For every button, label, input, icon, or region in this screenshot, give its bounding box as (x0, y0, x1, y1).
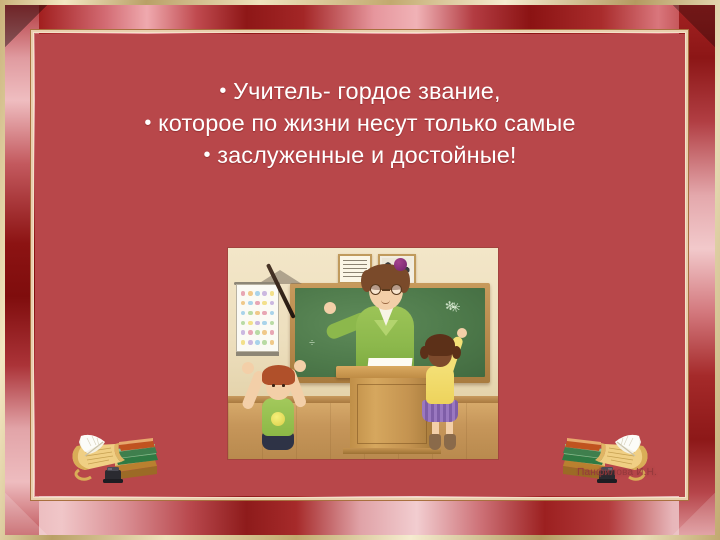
boy-hair (262, 365, 295, 385)
chart-dot (248, 311, 253, 316)
chart-dot (248, 330, 253, 335)
chart-dot (262, 301, 267, 306)
boy-eye (272, 384, 275, 387)
girl-boot (444, 434, 456, 450)
teacher-hair-accessory (394, 258, 407, 271)
chart-dot (262, 330, 267, 335)
chart-dot (255, 311, 260, 316)
wall-chart-dots (236, 284, 279, 352)
bullet-text: заслуженные и достойные! (217, 142, 516, 168)
boy-eye (282, 384, 285, 387)
chart-dot (255, 340, 260, 345)
chart-dot (248, 340, 253, 345)
books-scroll-quill-icon (59, 426, 163, 484)
slide: • Учитель- гордое звание, • которое по ж… (0, 0, 720, 540)
bullet-marker-icon: • (203, 144, 210, 166)
chart-dot (248, 291, 253, 296)
chart-dot (270, 321, 275, 326)
chart-dot (270, 291, 275, 296)
chalkboard-mark-left: ÷ (309, 338, 315, 349)
bullet-list: • Учитель- гордое звание, • которое по ж… (35, 76, 685, 172)
chart-dot (241, 301, 246, 306)
chart-dot (262, 340, 267, 345)
girl-top (426, 366, 454, 404)
chart-dot (241, 291, 246, 296)
chart-dot (270, 340, 275, 345)
chart-dot (262, 291, 267, 296)
boy-left-fist (242, 362, 254, 374)
teacher-hand (324, 302, 336, 314)
bullet-item: • заслуженные и достойные! (35, 140, 685, 172)
girl-hair (425, 334, 455, 356)
chart-dot (270, 330, 275, 335)
classroom-illustration: ÷ ✻ (228, 248, 498, 459)
chart-dot (241, 311, 246, 316)
boy-shirt-logo-icon (271, 412, 285, 426)
chart-dot (262, 321, 267, 326)
girl-boot (429, 434, 441, 450)
chart-dot (255, 291, 260, 296)
boy-right-fist (294, 360, 306, 372)
chart-dot (248, 301, 253, 306)
bullet-item: • Учитель- гордое звание, (35, 76, 685, 108)
chart-dot (270, 311, 275, 316)
chart-dot (241, 340, 246, 345)
teacher-glasses-icon (369, 284, 403, 295)
chart-dot (270, 301, 275, 306)
teacher-desk-base (343, 448, 441, 454)
chart-dot (241, 330, 246, 335)
chart-dot (248, 321, 253, 326)
bullet-text: которое по жизни несут только самые (158, 110, 575, 136)
chart-foot (236, 352, 279, 356)
chart-dot (255, 301, 260, 306)
bullet-item: • которое по жизни несут только самые (35, 108, 685, 140)
bullet-text: Учитель- гордое звание, (233, 78, 501, 104)
bullet-marker-icon: • (219, 80, 226, 102)
chart-dot (241, 321, 246, 326)
slide-canvas: • Учитель- гордое звание, • которое по ж… (35, 34, 685, 496)
chart-dot (255, 330, 260, 335)
chart-dot (262, 311, 267, 316)
chart-dot (255, 321, 260, 326)
bullet-marker-icon: • (144, 112, 151, 134)
author-caption: Панфилова И.Н. (577, 467, 657, 478)
frame-band-bottom (5, 495, 715, 535)
